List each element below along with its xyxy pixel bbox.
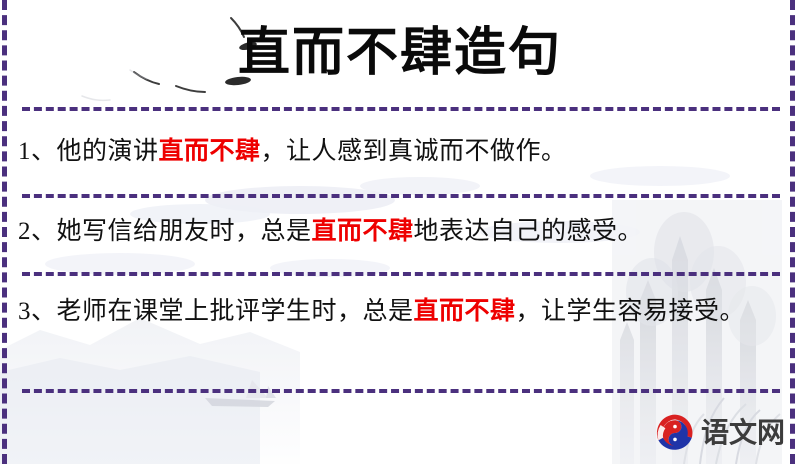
site-logo-text: 语文网 — [701, 418, 785, 448]
sentence-item-3: 3、老师在课堂上批评学生时，总是直而不肆，让学生容易接受。 — [18, 288, 780, 334]
sentence-2-text-before: 她写信给朋友时，总是 — [57, 218, 312, 245]
yin-yang-circle-logo-icon — [655, 413, 695, 453]
site-logo[interactable]: 语文网 — [655, 413, 785, 453]
page-title: 直而不肆造句 — [0, 22, 800, 84]
sentence-1-text-after: ，让人感到真诚而不做作。 — [261, 138, 567, 165]
divider-third — [22, 272, 780, 276]
divider-top — [22, 107, 780, 111]
sentence-3-text-before: 老师在课堂上批评学生时，总是 — [57, 298, 414, 325]
sentence-2-text-after: 地表达自己的感受。 — [414, 218, 644, 245]
sentence-item-1: 1、他的演讲直而不肆，让人感到真诚而不做作。 — [18, 128, 780, 174]
sentence-3-highlight: 直而不肆 — [414, 296, 516, 325]
sentence-2-index: 2、 — [18, 218, 57, 245]
sentence-3-text-after: ，让学生容易接受。 — [516, 298, 746, 325]
sentence-3-index: 3、 — [18, 298, 57, 325]
sentence-2-highlight: 直而不肆 — [312, 216, 414, 245]
sentence-item-2: 2、她写信给朋友时，总是直而不肆地表达自己的感受。 — [18, 208, 780, 254]
sentence-1-index: 1、 — [18, 138, 57, 165]
sentence-1-highlight: 直而不肆 — [159, 136, 261, 165]
sentence-1-text-before: 他的演讲 — [57, 138, 159, 165]
slide-canvas: 直而不肆造句 1、他的演讲直而不肆，让人感到真诚而不做作。 2、她写信给朋友时，… — [0, 0, 800, 464]
divider-second — [22, 194, 780, 198]
divider-bottom — [22, 389, 780, 393]
